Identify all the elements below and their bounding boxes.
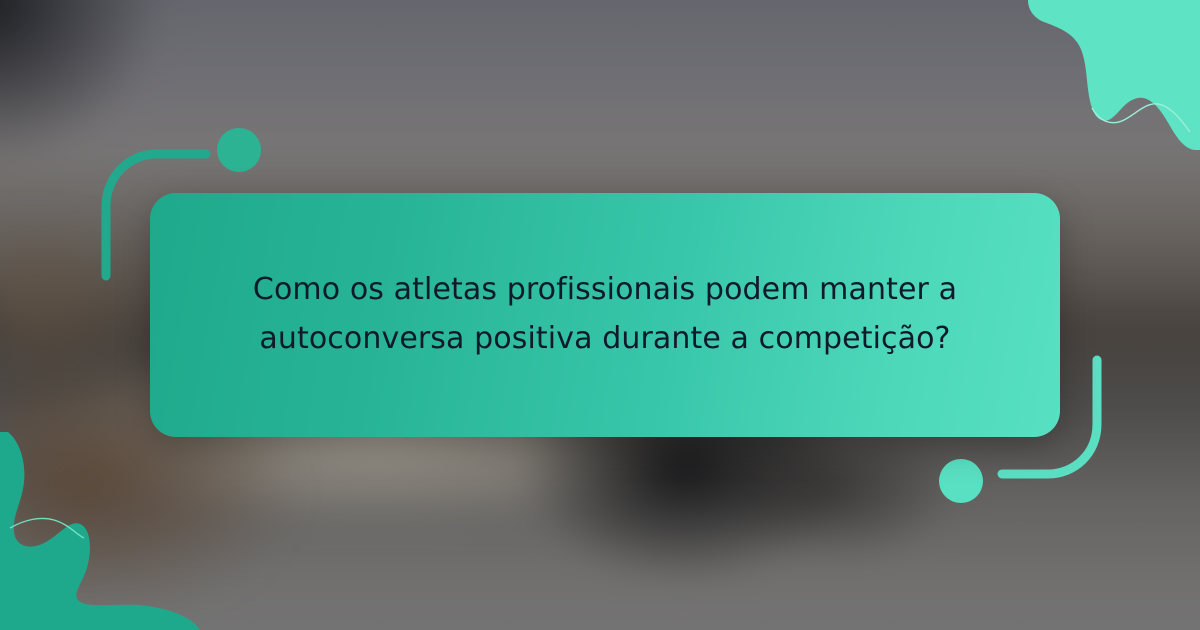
question-card: Como os atletas profissionais podem mant… (150, 193, 1060, 437)
dot-bottom-right-decoration (939, 459, 983, 503)
blob-bottom-left-decoration (0, 420, 240, 630)
blob-top-right-decoration (1000, 0, 1200, 150)
question-text: Como os atletas profissionais podem mant… (210, 266, 1000, 363)
quote-poster: Como os atletas profissionais podem mant… (0, 0, 1200, 630)
dot-top-left-decoration (217, 128, 261, 172)
